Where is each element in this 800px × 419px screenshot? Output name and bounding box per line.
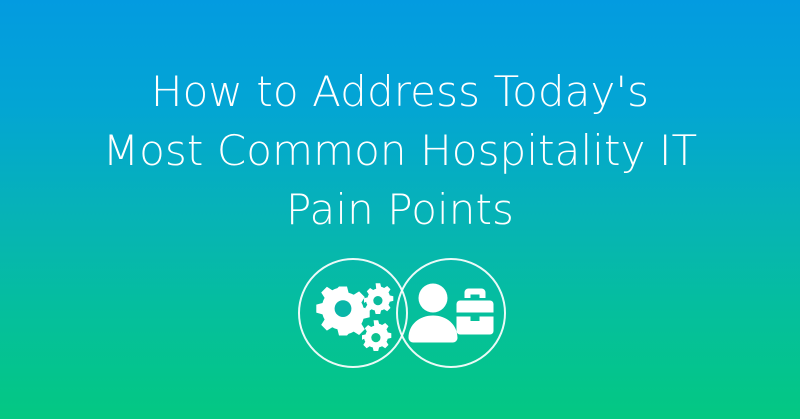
person-briefcase-icon xyxy=(396,256,506,366)
page-title: How to Address Today's Most Common Hospi… xyxy=(0,62,800,239)
gears-icon xyxy=(298,256,408,366)
title-line-1: How to Address Today's xyxy=(20,62,780,121)
title-line-3: Pain Points xyxy=(20,180,780,239)
icon-group xyxy=(298,256,510,372)
hero-banner: How to Address Today's Most Common Hospi… xyxy=(0,0,800,419)
title-line-2: Most Common Hospitality IT xyxy=(20,121,780,180)
